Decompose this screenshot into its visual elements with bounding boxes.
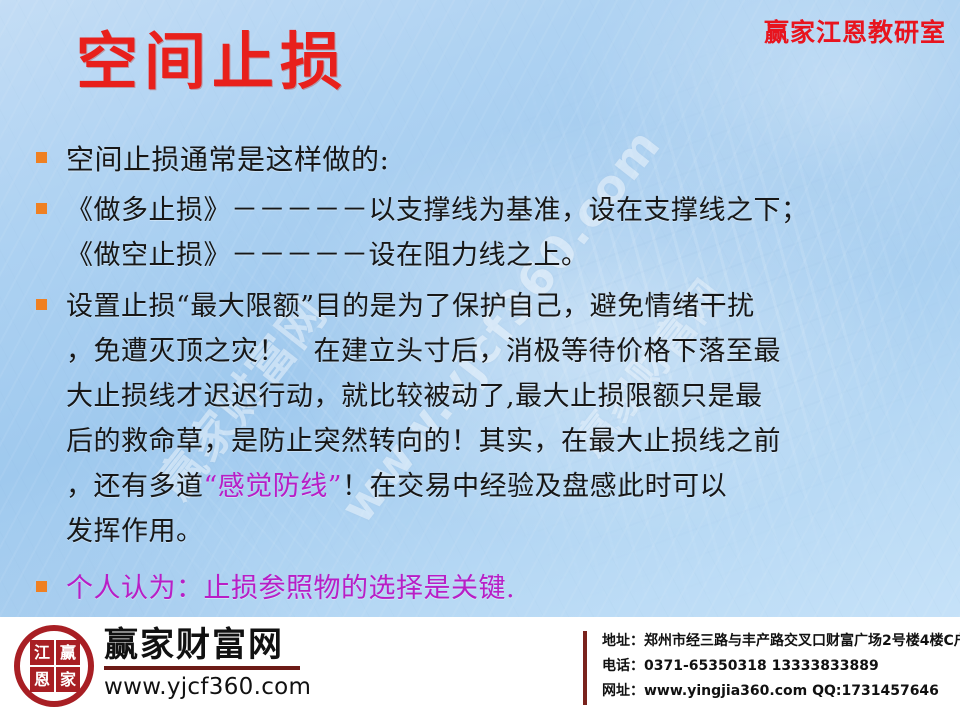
body-line: 《做多止损》－－－－－以支撑线为基准，设在支撑线之下； [36, 189, 936, 232]
company-seal-logo: 江 赢 恩 家 [14, 625, 94, 707]
body-line: 空间止损通常是这样做的: [36, 138, 936, 181]
body-line: 设置止损“最大限额”目的是为了保护自己，避免情绪干扰 [36, 285, 936, 328]
body-line-text: 空间止损通常是这样做的: [66, 138, 389, 181]
emphasis-quoted-text: “感觉防线” [204, 471, 343, 502]
bullet-square-icon [36, 152, 47, 163]
final-prefix: 个人认为： [66, 573, 204, 604]
final-line: 个人认为：止损参照物的选择是关键. [66, 567, 515, 610]
footer-web-value[interactable]: www.yingjia360.com QQ:1731457646 [644, 683, 939, 699]
body-line: 发挥作用。 [36, 510, 936, 553]
body-line-text: 设置止损“最大限额”目的是为了保护自己，避免情绪干扰 [66, 285, 755, 328]
body-line-text: ，还有多道 [66, 471, 204, 502]
final-emphasis: 止损参照物的选择是关键. [204, 573, 516, 604]
body-line-text: 《做多止损》－－－－－以支撑线为基准，设在支撑线之下； [66, 189, 809, 232]
body-line-text: 大止损线才迟迟行动，就比较被动了,最大止损限额只是最 [66, 375, 763, 418]
spacer [36, 555, 936, 567]
footer-brand-block: 赢家财富网 www.yjcf360.com [104, 627, 311, 700]
seal-char-br: 家 [56, 667, 80, 692]
seal-char-tl: 江 [30, 640, 54, 665]
footer-bar: 江 赢 恩 家 赢家财富网 www.yjcf360.com 地址：郑州市经三路与… [0, 617, 960, 720]
body-line-tail: ！在交易中经验及盘感此时可以 [342, 471, 727, 502]
body-line-text: 后的救命草，是防止突然转向的！其实，在最大止损线之前 [66, 420, 781, 463]
bullet-square-icon [36, 299, 47, 310]
seal-character-grid: 江 赢 恩 家 [30, 640, 80, 692]
body-line-final: 个人认为：止损参照物的选择是关键. [36, 567, 936, 610]
footer-address-label: 地址： [602, 633, 644, 649]
body-line-text: 《做空止损》－－－－－设在阻力线之上。 [66, 234, 589, 277]
body-line: 后的救命草，是防止突然转向的！其实，在最大止损线之前 [36, 420, 936, 463]
body-line: 大止损线才迟迟行动，就比较被动了,最大止损限额只是最 [36, 375, 936, 418]
footer-divider [583, 631, 587, 705]
body-line: ，免遭灭顶之灾！ 在建立头寸后，消极等待价格下落至最 [36, 330, 936, 373]
bullet-square-icon [36, 203, 47, 214]
footer-phone-value: 0371-65350318 13333833889 [644, 658, 879, 674]
slide-canvas: 赢家财富网 www.yjcf360.com 赢家财富网 赢家江恩教研室 空间止损… [0, 0, 960, 720]
footer-web-label: 网址： [602, 683, 644, 699]
body-content: 空间止损通常是这样做的: 《做多止损》－－－－－以支撑线为基准，设在支撑线之下；… [36, 138, 936, 612]
body-line-text: 发挥作用。 [66, 510, 204, 553]
footer-phone-line: 电话：0371-65350318 13333833889 [602, 654, 952, 679]
footer-brand-name: 赢家财富网 [104, 627, 311, 664]
footer-brand-url[interactable]: www.yjcf360.com [104, 674, 311, 700]
body-line: ，还有多道“感觉防线”！在交易中经验及盘感此时可以 [36, 465, 936, 508]
footer-web-line: 网址：www.yingjia360.com QQ:1731457646 [602, 679, 952, 704]
body-line-text: ，免遭灭顶之灾！ 在建立头寸后，消极等待价格下落至最 [66, 330, 781, 373]
body-line: 《做空止损》－－－－－设在阻力线之上。 [36, 234, 936, 277]
seal-char-bl: 恩 [30, 667, 54, 692]
footer-phone-label: 电话： [602, 658, 644, 674]
footer-address-value: 郑州市经三路与丰产路交叉口财富广场2号楼4楼C户 [644, 633, 960, 649]
body-line-mixed: ，还有多道“感觉防线”！在交易中经验及盘感此时可以 [66, 465, 727, 508]
footer-address-line: 地址：郑州市经三路与丰产路交叉口财富广场2号楼4楼C户 [602, 629, 952, 654]
footer-brand-rule [104, 666, 300, 670]
bullet-square-icon [36, 581, 47, 592]
footer-contact-block: 地址：郑州市经三路与丰产路交叉口财富广场2号楼4楼C户 电话：0371-6535… [602, 629, 952, 704]
page-title: 空间止损 [76, 26, 348, 97]
header-brand: 赢家江恩教研室 [764, 20, 946, 45]
seal-char-tr: 赢 [56, 640, 80, 665]
